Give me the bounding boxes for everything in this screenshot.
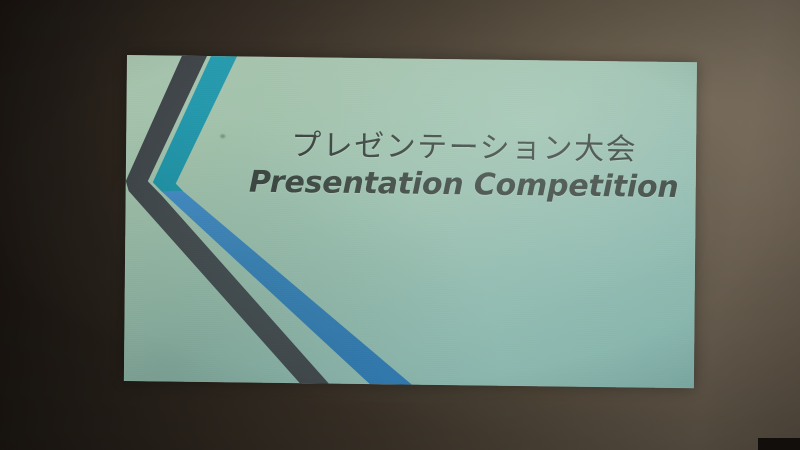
projection-scene: プレゼンテーション大会 Presentation Competition bbox=[0, 0, 800, 450]
scene-vignette bbox=[0, 0, 800, 450]
